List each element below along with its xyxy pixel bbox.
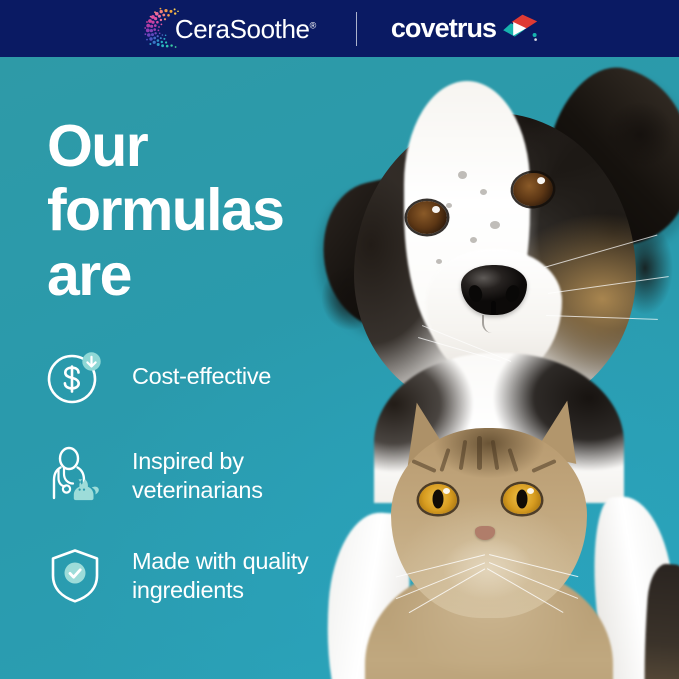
covetrus-wordmark: covetrus [391, 15, 496, 42]
feature-label: Inspired by veterinarians [132, 447, 263, 504]
dog-freckle [446, 203, 452, 208]
page-title: Our formulas are [47, 114, 283, 307]
feature-item-cost-effective: Cost-effective [44, 345, 364, 407]
cat-pupil [433, 490, 444, 509]
dog-nostril-crease [491, 301, 496, 315]
cat-right-eye [503, 484, 541, 514]
feature-label: Cost-effective [132, 362, 271, 391]
tabby-cat-photo [381, 392, 679, 679]
dog-left-eye [407, 201, 447, 234]
dog-freckle [490, 221, 500, 229]
feature-list: Cost-effective [44, 345, 364, 607]
dollar-circle-down-arrow-icon [44, 345, 106, 407]
covetrus-logo: covetrus [391, 14, 538, 44]
brand-header-bar: CeraSoothe® covetrus [0, 0, 679, 57]
brand-divider [356, 12, 357, 46]
shield-check-icon [44, 545, 106, 607]
dog-freckle [470, 237, 477, 243]
cerasoothe-registered-mark: ® [310, 20, 316, 30]
feature-label: Made with quality ingredients [132, 547, 308, 604]
cat-forehead-stripe [477, 436, 482, 470]
cat-eye-highlight [527, 488, 534, 494]
cat-pupil [517, 490, 528, 509]
hero-stage: Our formulas are Cost-effective [0, 57, 679, 679]
cat-eye-highlight [443, 488, 450, 494]
dog-freckle [436, 259, 442, 264]
marketing-banner: CeraSoothe® covetrus [0, 0, 679, 679]
dog-freckle [458, 171, 467, 179]
dog-eye-highlight [537, 177, 546, 185]
covetrus-diamond-mark-icon [502, 14, 538, 44]
cerasoothe-logo: CeraSoothe® [141, 6, 316, 52]
dog-freckle [480, 189, 487, 195]
dog-mouth-line [482, 315, 514, 333]
veterinarian-with-cat-icon [44, 445, 106, 507]
cat-left-eye [419, 484, 457, 514]
feature-item-inspired-by-veterinarians: Inspired by veterinarians [44, 445, 364, 507]
cerasoothe-name: CeraSoothe [175, 14, 310, 44]
dog-ear-fur-right [592, 89, 679, 181]
dog-eye-highlight [432, 206, 440, 213]
cerasoothe-wordmark: CeraSoothe® [175, 16, 316, 42]
feature-item-made-with-quality-ingredients: Made with quality ingredients [44, 545, 364, 607]
